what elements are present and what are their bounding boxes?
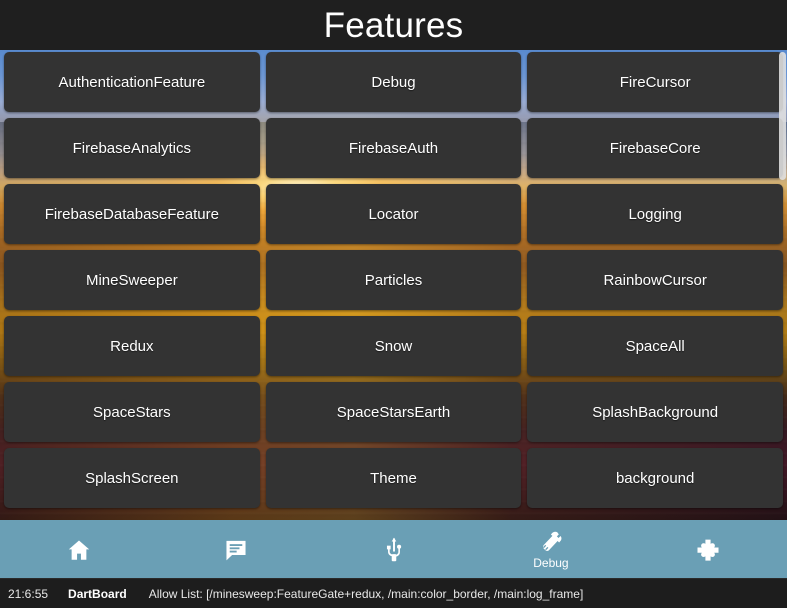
feature-tile[interactable]: Logging [527, 184, 783, 244]
feature-grid-scroll[interactable]: AuthenticationFeatureDebugFireCursorFire… [0, 50, 787, 520]
nav-item-puzzle[interactable] [630, 520, 787, 578]
app-window: Features AuthenticationFeatureDebugFireC… [0, 0, 787, 608]
nav-item-usb[interactable] [315, 520, 472, 578]
feature-tile-label: Logging [628, 206, 681, 223]
feature-tile[interactable]: FirebaseDatabaseFeature [4, 184, 260, 244]
feature-tile[interactable]: Particles [266, 250, 522, 310]
feature-tile-label: Snow [375, 338, 413, 355]
feature-tile-label: Particles [365, 272, 423, 289]
feature-tile[interactable]: SplashBackground [527, 382, 783, 442]
feature-tile[interactable]: Snow [266, 316, 522, 376]
feature-tile[interactable]: Locator [266, 184, 522, 244]
feature-tile[interactable]: RainbowCursor [527, 250, 783, 310]
feature-tile-label: SplashBackground [592, 404, 718, 421]
feature-tile[interactable]: MineSweeper [4, 250, 260, 310]
feature-tile-label: SplashScreen [85, 470, 178, 487]
feature-tile-label: FirebaseDatabaseFeature [45, 206, 219, 223]
feature-tile-label: SpaceAll [626, 338, 685, 355]
vertical-scrollbar-thumb[interactable] [779, 52, 786, 180]
feature-tile-label: background [616, 470, 694, 487]
feature-tile-label: Theme [370, 470, 417, 487]
feature-tile[interactable]: Theme [266, 448, 522, 508]
bottom-navigation-bar: Debug [0, 520, 787, 578]
status-app-name: DartBoard [68, 587, 127, 601]
puzzle-icon [695, 537, 721, 563]
feature-tile[interactable]: AuthenticationFeature [4, 52, 260, 112]
feature-tile[interactable]: SplashScreen [4, 448, 260, 508]
nav-item-label: Debug [533, 557, 568, 570]
feature-tile-label: Locator [368, 206, 418, 223]
message-icon [223, 537, 249, 563]
feature-tile-label: RainbowCursor [603, 272, 706, 289]
nav-item-home[interactable] [0, 520, 157, 578]
wrench-icon [538, 530, 564, 556]
feature-tile-label: FirebaseCore [610, 140, 701, 157]
feature-tile-label: FirebaseAuth [349, 140, 438, 157]
feature-tile-label: MineSweeper [86, 272, 178, 289]
feature-tile[interactable]: FirebaseAuth [266, 118, 522, 178]
feature-tile[interactable]: SpaceStars [4, 382, 260, 442]
feature-tile[interactable]: FireCursor [527, 52, 783, 112]
feature-tile-label: AuthenticationFeature [58, 74, 205, 91]
feature-tile-label: SpaceStars [93, 404, 171, 421]
feature-tile-label: Debug [371, 74, 415, 91]
feature-tile-label: Redux [110, 338, 153, 355]
feature-grid: AuthenticationFeatureDebugFireCursorFire… [0, 52, 787, 508]
feature-tile[interactable]: FirebaseCore [527, 118, 783, 178]
feature-tile[interactable]: SpaceStarsEarth [266, 382, 522, 442]
status-bar: 21:6:55 DartBoard Allow List: [/mineswee… [0, 578, 787, 608]
feature-grid-area: AuthenticationFeatureDebugFireCursorFire… [0, 50, 787, 520]
feature-tile[interactable]: Debug [266, 52, 522, 112]
status-allow-list: Allow List: [/minesweep:FeatureGate+redu… [149, 587, 584, 601]
feature-tile-label: FireCursor [620, 74, 691, 91]
status-time: 21:6:55 [8, 587, 48, 601]
feature-tile-label: SpaceStarsEarth [337, 404, 450, 421]
nav-item-wrench[interactable]: Debug [472, 520, 629, 578]
nav-item-message[interactable] [157, 520, 314, 578]
page-title: Features [324, 8, 464, 43]
feature-tile[interactable]: FirebaseAnalytics [4, 118, 260, 178]
feature-tile-label: FirebaseAnalytics [73, 140, 191, 157]
feature-tile[interactable]: SpaceAll [527, 316, 783, 376]
home-icon [66, 537, 92, 563]
feature-tile[interactable]: background [527, 448, 783, 508]
usb-icon [381, 537, 407, 563]
feature-tile[interactable]: Redux [4, 316, 260, 376]
app-bar: Features [0, 0, 787, 50]
